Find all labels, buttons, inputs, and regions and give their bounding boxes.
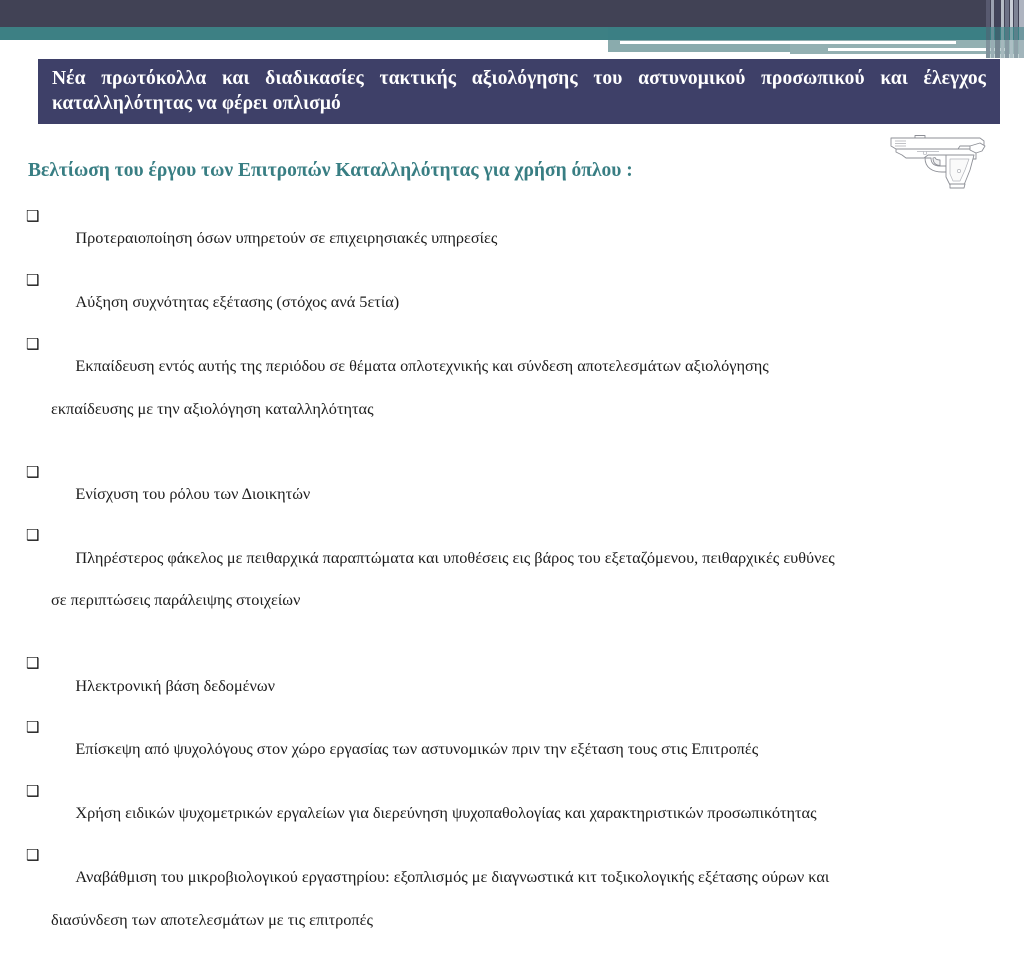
- checkbox-square-icon: ❑: [26, 462, 51, 483]
- bullet-list: ❑ Προτεραιοποίηση όσων υπηρετούν σε επιχ…: [26, 206, 1006, 973]
- checkbox-square-icon: ❑: [26, 717, 51, 738]
- slide-title: Νέα πρωτόκολλα και διαδικασίες τακτικής …: [52, 66, 986, 116]
- checkbox-square-icon: ❑: [26, 525, 51, 546]
- list-item-continuation: εκπαίδευσης με την αξιολόγηση καταλληλότ…: [51, 398, 1006, 419]
- list-item-text: Προτεραιοποίηση όσων υπηρετούν σε επιχει…: [75, 228, 497, 247]
- list-item-text: Επίσκεψη από ψυχολόγους στον χώρο εργασί…: [75, 739, 758, 758]
- header-vertical-stripes: [986, 0, 1024, 58]
- list-item: ❑ Χρήση ειδικών ψυχομετρικών εργαλείων γ…: [26, 781, 1006, 845]
- checkbox-square-icon: ❑: [26, 206, 51, 227]
- list-item-continuation: διασύνδεση των αποτελεσμάτων με τις επιτ…: [51, 909, 1006, 930]
- checkbox-square-icon: ❑: [26, 845, 51, 866]
- checkbox-square-icon: ❑: [26, 270, 51, 291]
- checkbox-square-icon: ❑: [26, 781, 51, 802]
- list-item-text: Αύξηση συχνότητας εξέτασης (στόχος ανά 5…: [75, 292, 399, 311]
- list-item: ❑ Αύξηση συχνότητας εξέτασης (στόχος ανά…: [26, 270, 1006, 334]
- list-item: ❑ Ηλεκτρονική βάση δεδομένων: [26, 653, 1006, 717]
- header-band-dark: [0, 0, 1024, 27]
- list-item-text: Ηλεκτρονική βάση δεδομένων: [75, 676, 275, 695]
- list-item-text: Ενίσχυση του ρόλου των Διοικητών: [75, 484, 310, 503]
- list-item: ❑ Πληρέστερος φάκελος με πειθαρχικά παρα…: [26, 525, 1006, 653]
- list-item: ❑ Προτεραιοποίηση όσων υπηρετούν σε επιχ…: [26, 206, 1006, 270]
- list-item: ❑ Εκπαίδευση εντός αυτής της περιόδου σε…: [26, 334, 1006, 462]
- list-item-text: Εκπαίδευση εντός αυτής της περιόδου σε θ…: [75, 356, 768, 375]
- list-item-text: Πληρέστερος φάκελος με πειθαρχικά παραπτ…: [75, 548, 834, 567]
- slide-title-bar: Νέα πρωτόκολλα και διαδικασίες τακτικής …: [38, 59, 1000, 124]
- list-item: ❑ Επίσκεψη από ψυχολόγους στον χώρο εργα…: [26, 717, 1006, 781]
- list-item-text: Αναβάθμιση του μικροβιολογικού εργαστηρί…: [75, 867, 829, 886]
- header-rule-lower: [828, 48, 1008, 51]
- list-item-continuation: σε περιπτώσεις παράλειψης στοιχείων: [51, 589, 1006, 610]
- list-item: ❑ Ενίσχυση του ρόλου των Διοικητών: [26, 462, 1006, 526]
- checkbox-square-icon: ❑: [26, 334, 51, 355]
- header-band-teal-right: [608, 27, 1024, 40]
- list-item-text: Χρήση ειδικών ψυχομετρικών εργαλείων για…: [75, 803, 816, 822]
- pistol-illustration: [884, 122, 1006, 190]
- header-rule-upper: [620, 41, 956, 44]
- checkbox-square-icon: ❑: [26, 653, 51, 674]
- list-item: ❑ Αναβάθμιση του μικροβιολογικού εργαστη…: [26, 845, 1006, 973]
- section-subheading: Βελτίωση του έργου των Επιτροπών Καταλλη…: [28, 158, 633, 184]
- header-decoration: [0, 0, 1024, 58]
